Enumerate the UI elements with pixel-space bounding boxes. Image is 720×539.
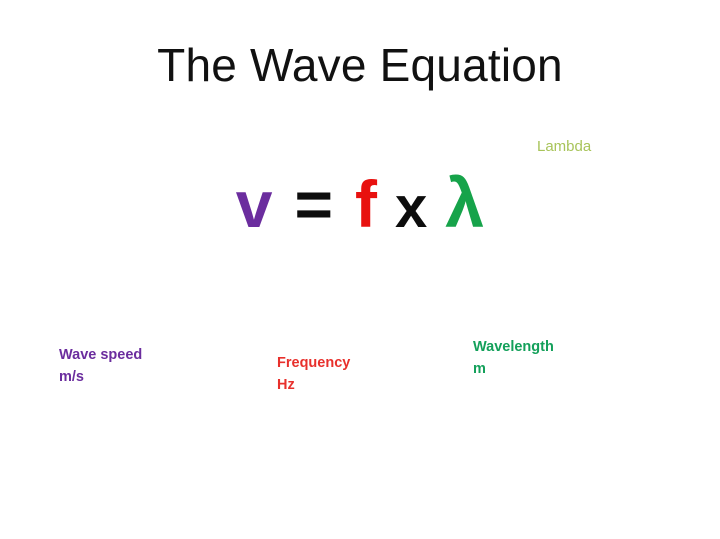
equation-term-wave-speed: v	[236, 171, 273, 237]
annotation-frequency-unit: Hz	[277, 374, 350, 396]
annotation-wave-speed: Wave speed m/s	[59, 344, 142, 389]
annotation-wave-speed-label: Wave speed	[59, 347, 142, 363]
annotation-frequency: Frequency Hz	[277, 352, 350, 397]
wave-equation: v=fxλ	[0, 168, 720, 238]
slide-canvas: The Wave Equation v=fxλ Lambda Wave spee…	[0, 0, 720, 539]
annotation-wavelength-label: Wavelength	[473, 339, 554, 355]
equation-equals-sign: =	[294, 171, 333, 237]
annotation-frequency-label: Frequency	[277, 355, 350, 371]
equation-term-frequency: f	[355, 171, 377, 237]
annotation-wave-speed-unit: m/s	[59, 366, 142, 388]
annotation-wavelength-unit: m	[473, 358, 554, 380]
page-title: The Wave Equation	[0, 38, 720, 92]
equation-multiply-sign: x	[395, 179, 427, 237]
equation-term-lambda: λ	[445, 168, 484, 238]
annotation-wavelength: Wavelength m	[473, 336, 554, 381]
lambda-callout-label: Lambda	[537, 138, 591, 155]
